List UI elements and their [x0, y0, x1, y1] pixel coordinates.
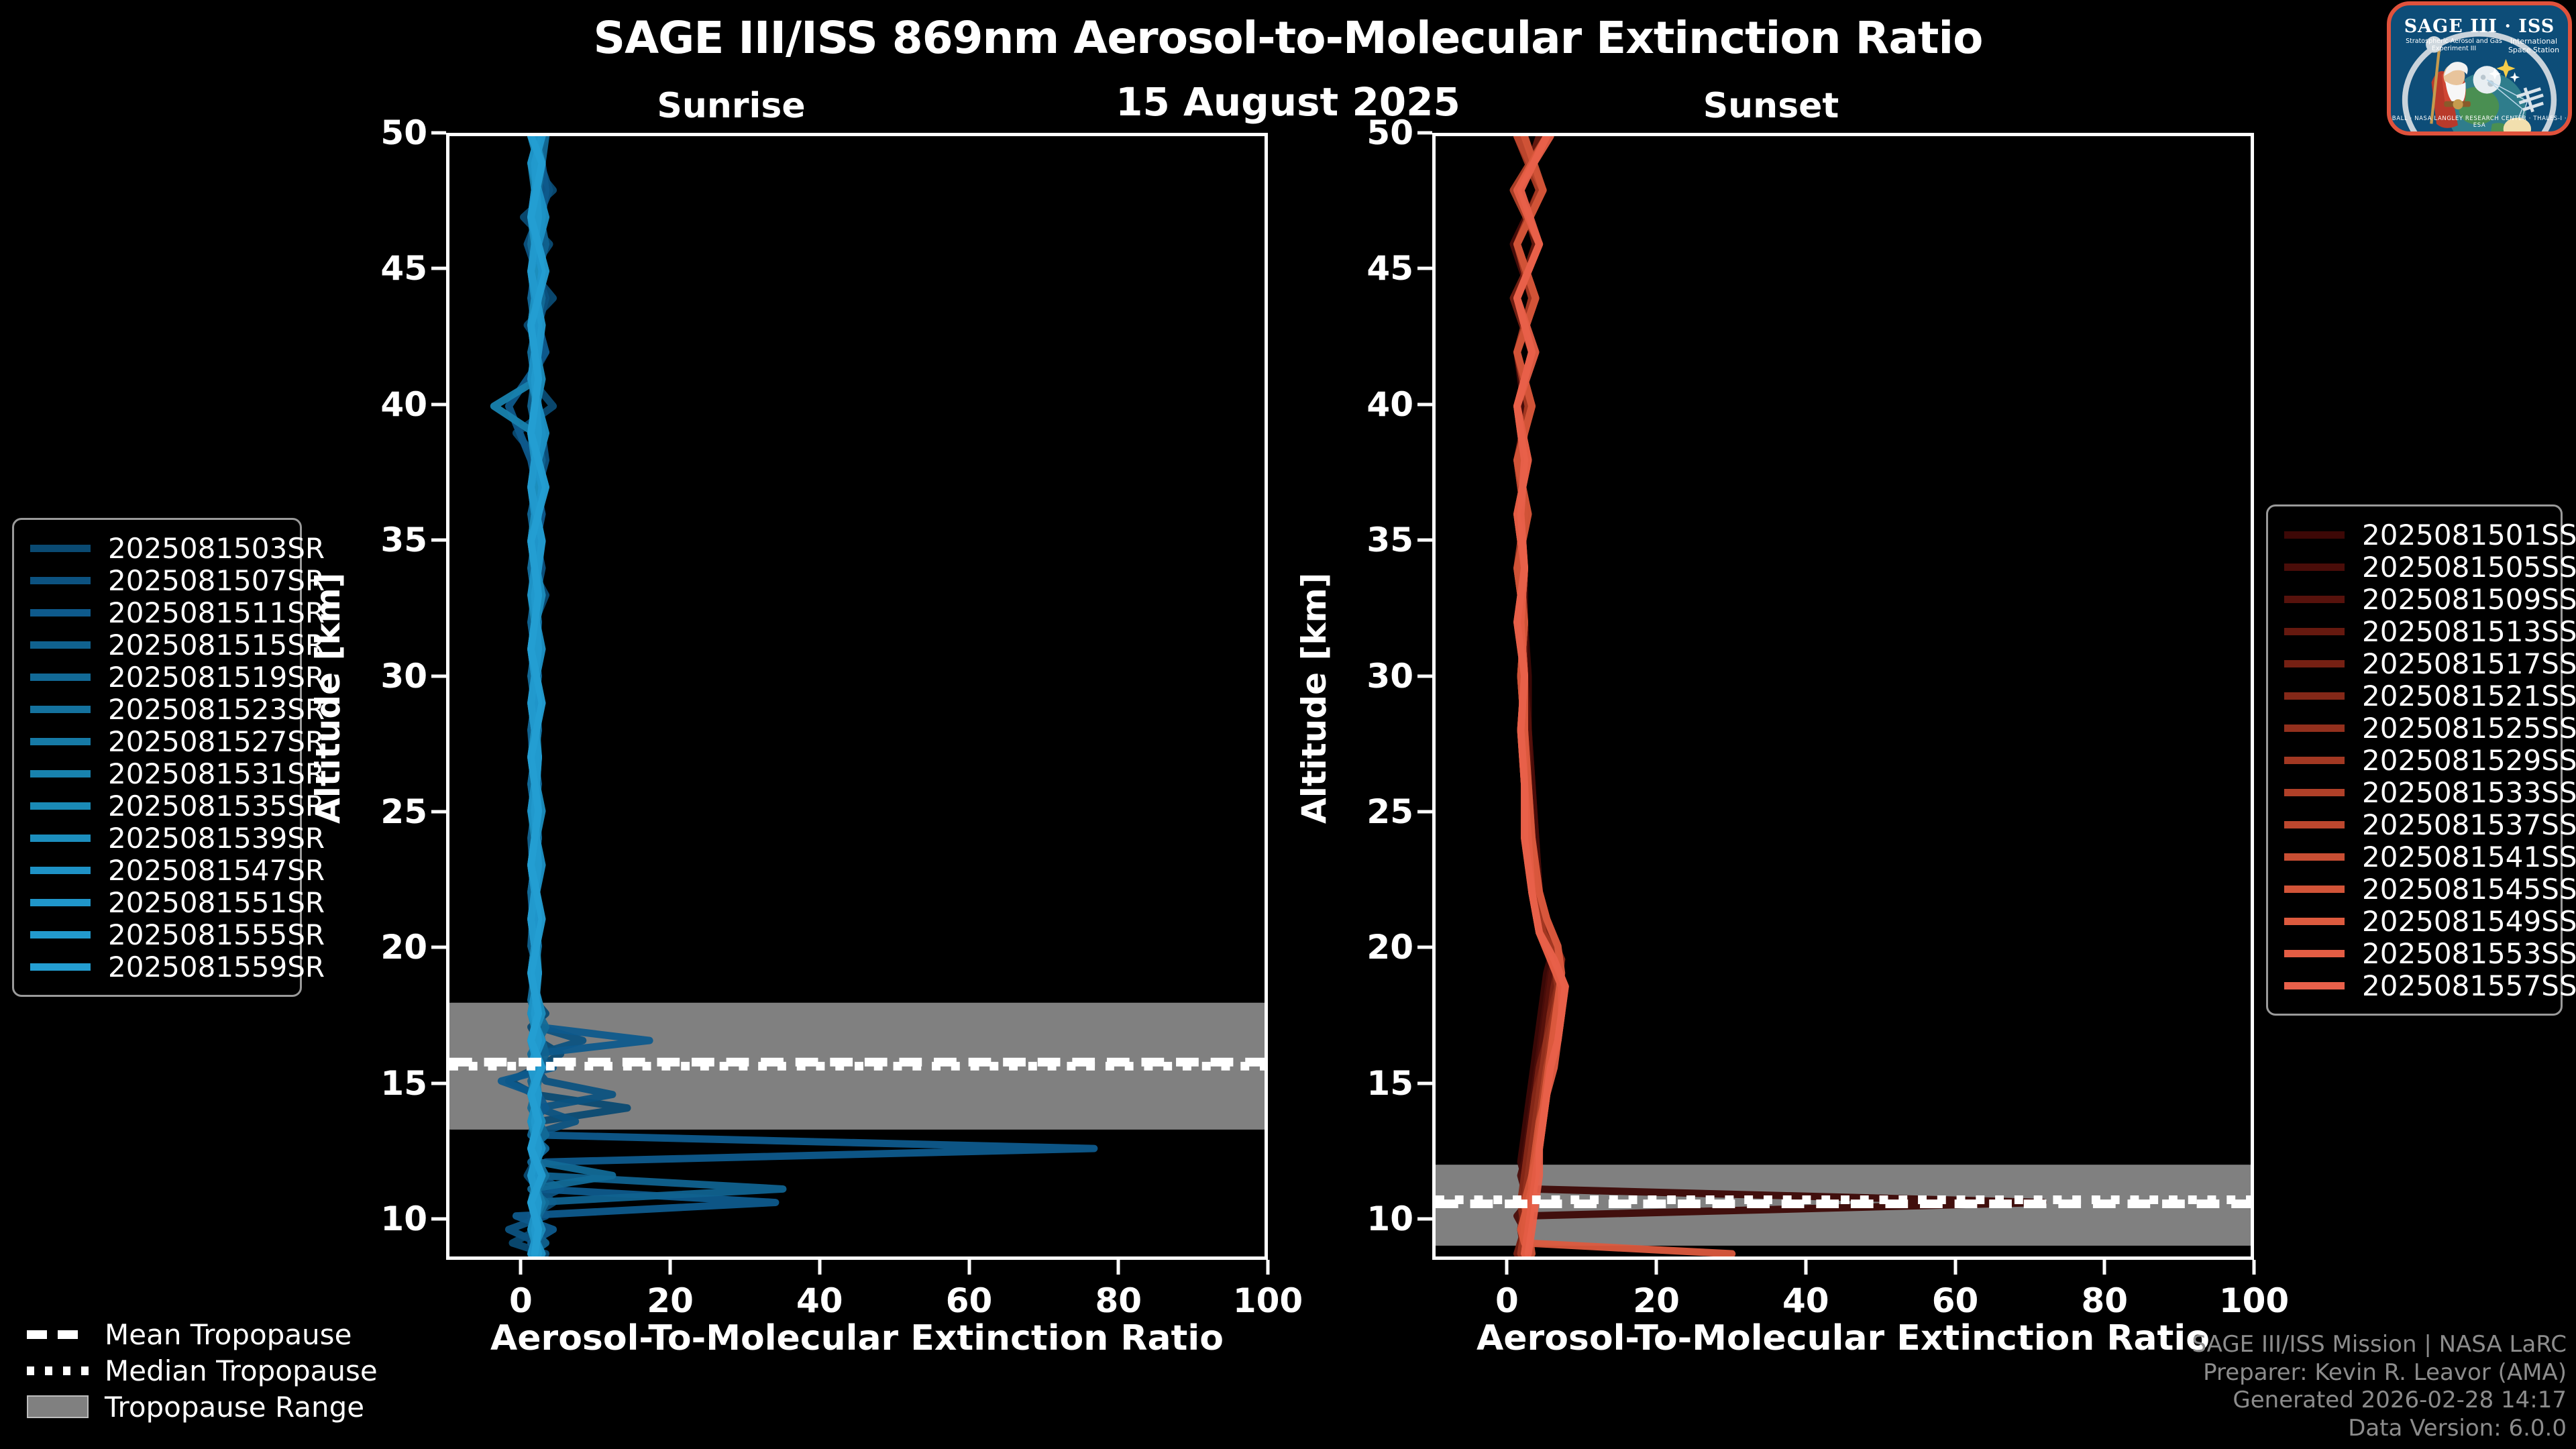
legend-item-2025081535SR[interactable]: 2025081535SR: [26, 790, 285, 822]
tropopause-legend: Mean Tropopause Median Tropopause Tropop…: [12, 1316, 378, 1425]
legend-event-label: 2025081517SS: [2362, 647, 2576, 680]
legend-event-label: 2025081549SS: [2362, 905, 2576, 938]
legend-color-swatch: [30, 545, 91, 552]
footer-line-mission: SAGE III/ISS Mission | NASA LaRC: [2192, 1331, 2567, 1358]
footer-line-version: Data Version: 6.0.0: [2192, 1415, 2567, 1442]
data-series-line: [1517, 136, 2043, 1254]
legend-event-label: 2025081529SS: [2362, 744, 2576, 777]
legend-item-2025081505SS[interactable]: 2025081505SS: [2280, 551, 2546, 583]
legend-color-swatch: [2284, 692, 2345, 700]
x-axis-tick-mark: [1267, 1260, 1270, 1275]
legend-item-2025081549SS[interactable]: 2025081549SS: [2280, 905, 2546, 937]
x-axis-tick-label: 60: [902, 1281, 1036, 1320]
sunrise-x-axis-label: Aerosol-To-Molecular Extinction Ratio: [446, 1318, 1268, 1358]
legend-color-swatch: [30, 706, 91, 713]
x-axis-tick-label: 80: [2037, 1281, 2171, 1320]
y-axis-tick-mark: [1417, 402, 1432, 406]
legend-color-swatch: [2284, 628, 2345, 635]
legend-item-2025081503SR[interactable]: 2025081503SR: [26, 532, 285, 564]
logo-partner-arc: BALL · NASA LANGLEY RESEARCH CENTER · TH…: [2391, 115, 2568, 129]
legend-item-2025081519SR[interactable]: 2025081519SR: [26, 661, 285, 693]
y-axis-tick-mark: [431, 674, 446, 678]
legend-label-median: Median Tropopause: [105, 1354, 378, 1387]
legend-item-2025081501SS[interactable]: 2025081501SS: [2280, 519, 2546, 551]
x-axis-tick-label: 60: [1888, 1281, 2023, 1320]
legend-item-2025081533SS[interactable]: 2025081533SS: [2280, 776, 2546, 808]
y-axis-tick-mark: [1417, 1218, 1432, 1221]
legend-event-label: 2025081535SR: [108, 790, 325, 822]
dashed-line-icon: [27, 1330, 89, 1339]
legend-color-swatch: [30, 867, 91, 874]
legend-event-label: 2025081525SS: [2362, 712, 2576, 745]
legend-event-label: 2025081531SR: [108, 757, 325, 790]
legend-item-2025081537SS[interactable]: 2025081537SS: [2280, 808, 2546, 841]
x-axis-tick-mark: [1117, 1260, 1120, 1275]
sunset-plot-area: [1432, 133, 2254, 1260]
y-axis-tick-label: 50: [1313, 113, 1413, 152]
y-axis-tick-label: 10: [1313, 1199, 1413, 1238]
legend-item-median-tropopause: Median Tropopause: [12, 1352, 378, 1389]
y-axis-tick-mark: [431, 1081, 446, 1085]
x-axis-tick-mark: [967, 1260, 971, 1275]
legend-color-swatch: [2284, 918, 2345, 925]
legend-color-swatch: [2284, 531, 2345, 539]
legend-color-swatch: [2284, 789, 2345, 796]
legend-item-2025081521SS[interactable]: 2025081521SS: [2280, 680, 2546, 712]
legend-event-label: 2025081515SR: [108, 629, 325, 661]
x-axis-tick-mark: [818, 1260, 821, 1275]
x-axis-tick-label: 40: [753, 1281, 887, 1320]
y-axis-tick-mark: [1417, 946, 1432, 949]
legend-color-swatch: [30, 963, 91, 971]
y-axis-tick-mark: [431, 946, 446, 949]
legend-color-swatch: [2284, 596, 2345, 603]
legend-item-2025081531SR[interactable]: 2025081531SR: [26, 757, 285, 790]
sunset-panel-title: Sunset: [1637, 86, 1905, 126]
logo-title: SAGE III · ISS: [2391, 16, 2568, 37]
legend-event-label: 2025081547SR: [108, 854, 325, 887]
y-axis-tick-label: 35: [327, 521, 427, 559]
legend-event-label: 2025081537SS: [2362, 808, 2576, 841]
legend-item-2025081517SS[interactable]: 2025081517SS: [2280, 647, 2546, 680]
page-title: SAGE III/ISS 869nm Aerosol-to-Molecular …: [0, 12, 2576, 64]
legend-item-2025081559SR[interactable]: 2025081559SR: [26, 951, 285, 983]
legend-color-swatch: [2284, 885, 2345, 893]
legend-event-label: 2025081501SS: [2362, 519, 2576, 551]
legend-item-2025081547SR[interactable]: 2025081547SR: [26, 854, 285, 886]
sunrise-plot-area: [446, 133, 1268, 1260]
legend-event-label: 2025081545SS: [2362, 873, 2576, 906]
legend-item-tropopause-range: Tropopause Range: [12, 1389, 378, 1425]
legend-event-label: 2025081523SR: [108, 693, 325, 726]
legend-label-range: Tropopause Range: [105, 1391, 364, 1424]
legend-color-swatch: [30, 802, 91, 810]
sunset-x-axis-label: Aerosol-To-Molecular Extinction Ratio: [1432, 1318, 2254, 1358]
legend-color-swatch: [30, 738, 91, 745]
y-axis-tick-mark: [1417, 810, 1432, 814]
legend-item-mean-tropopause: Mean Tropopause: [12, 1316, 378, 1352]
legend-event-label: 2025081503SR: [108, 532, 325, 565]
y-axis-tick-mark: [431, 810, 446, 814]
legend-item-2025081525SS[interactable]: 2025081525SS: [2280, 712, 2546, 744]
legend-color-swatch: [2284, 660, 2345, 667]
y-axis-tick-label: 45: [1313, 249, 1413, 288]
legend-color-swatch: [30, 674, 91, 681]
legend-item-2025081539SR[interactable]: 2025081539SR: [26, 822, 285, 854]
x-axis-tick-mark: [1804, 1260, 1807, 1275]
filled-band-icon: [27, 1395, 89, 1418]
legend-event-label: 2025081555SR: [108, 918, 325, 951]
y-axis-tick-label: 50: [327, 113, 427, 152]
sunrise-legend[interactable]: 2025081503SR2025081507SR2025081511SR2025…: [12, 518, 302, 997]
legend-event-label: 2025081551SR: [108, 886, 325, 919]
logo-subtitle-right: International Space Station: [2505, 38, 2563, 55]
y-axis-tick-mark: [431, 131, 446, 135]
y-axis-tick-label: 40: [327, 385, 427, 424]
footer-credits: SAGE III/ISS Mission | NASA LaRC Prepare…: [2192, 1331, 2567, 1442]
x-axis-tick-label: 100: [1201, 1281, 1335, 1320]
legend-color-swatch: [2284, 724, 2345, 732]
legend-event-label: 2025081527SR: [108, 725, 325, 758]
legend-event-label: 2025081511SR: [108, 596, 325, 629]
legend-item-2025081553SS[interactable]: 2025081553SS: [2280, 937, 2546, 969]
legend-item-2025081507SR[interactable]: 2025081507SR: [26, 564, 285, 596]
x-axis-tick-mark: [1953, 1260, 1957, 1275]
logo-subtitle-left: Stratospheric Aerosol and Gas Experiment…: [2395, 38, 2513, 52]
y-axis-tick-mark: [1417, 674, 1432, 678]
legend-event-label: 2025081553SS: [2362, 937, 2576, 970]
sunset-legend[interactable]: 2025081501SS2025081505SS2025081509SS2025…: [2266, 504, 2563, 1016]
legend-color-swatch: [2284, 821, 2345, 828]
y-axis-tick-mark: [431, 539, 446, 542]
legend-item-2025081511SR[interactable]: 2025081511SR: [26, 596, 285, 629]
legend-color-swatch: [30, 577, 91, 584]
y-axis-tick-mark: [1417, 131, 1432, 135]
y-axis-tick-label: 15: [327, 1064, 427, 1103]
x-axis-tick-label: 20: [1589, 1281, 1723, 1320]
legend-event-label: 2025081509SS: [2362, 583, 2576, 616]
legend-color-swatch: [30, 641, 91, 649]
y-axis-tick-mark: [1417, 539, 1432, 542]
x-axis-tick-mark: [2253, 1260, 2256, 1275]
legend-event-label: 2025081557SS: [2362, 969, 2576, 1002]
legend-item-2025081551SR[interactable]: 2025081551SR: [26, 886, 285, 918]
legend-event-label: 2025081507SR: [108, 564, 325, 597]
y-axis-tick-label: 40: [1313, 385, 1413, 424]
y-axis-tick-mark: [1417, 267, 1432, 270]
x-axis-tick-mark: [2103, 1260, 2106, 1275]
y-axis-tick-label: 35: [1313, 521, 1413, 559]
y-axis-tick-mark: [431, 1218, 446, 1221]
legend-item-2025081515SR[interactable]: 2025081515SR: [26, 629, 285, 661]
legend-event-label: 2025081533SS: [2362, 776, 2576, 809]
y-axis-tick-mark: [431, 402, 446, 406]
x-axis-tick-mark: [519, 1260, 523, 1275]
legend-item-2025081545SS[interactable]: 2025081545SS: [2280, 873, 2546, 905]
legend-item-2025081555SR[interactable]: 2025081555SR: [26, 918, 285, 951]
legend-color-swatch: [30, 770, 91, 777]
legend-event-label: 2025081505SS: [2362, 551, 2576, 584]
legend-item-2025081523SR[interactable]: 2025081523SR: [26, 693, 285, 725]
legend-item-2025081529SS[interactable]: 2025081529SS: [2280, 744, 2546, 776]
x-axis-tick-label: 80: [1051, 1281, 1185, 1320]
y-axis-tick-label: 10: [327, 1199, 427, 1238]
x-axis-tick-label: 0: [1440, 1281, 1574, 1320]
legend-item-2025081541SS[interactable]: 2025081541SS: [2280, 841, 2546, 873]
logo-patch: SAGE III · ISS Stratospheric Aerosol and…: [2387, 1, 2572, 136]
legend-color-swatch: [30, 609, 91, 616]
legend-event-label: 2025081513SS: [2362, 615, 2576, 648]
legend-item-2025081527SR[interactable]: 2025081527SR: [26, 725, 285, 757]
legend-color-swatch: [2284, 757, 2345, 764]
sage-iii-iss-logo: SAGE III · ISS Stratospheric Aerosol and…: [2387, 1, 2572, 136]
y-axis-tick-mark: [1417, 1081, 1432, 1085]
legend-item-2025081509SS[interactable]: 2025081509SS: [2280, 583, 2546, 615]
legend-event-label: 2025081521SS: [2362, 680, 2576, 712]
legend-event-label: 2025081559SR: [108, 951, 325, 983]
legend-label-mean: Mean Tropopause: [105, 1318, 352, 1351]
legend-color-swatch: [2284, 950, 2345, 957]
y-axis-tick-label: 45: [327, 249, 427, 288]
legend-color-swatch: [2284, 563, 2345, 571]
legend-color-swatch: [2284, 853, 2345, 861]
y-axis-tick-label: 20: [1313, 928, 1413, 967]
legend-event-label: 2025081539SR: [108, 822, 325, 855]
x-axis-tick-label: 0: [453, 1281, 588, 1320]
x-axis-tick-label: 100: [2187, 1281, 2321, 1320]
footer-line-preparer: Preparer: Kevin R. Leavor (AMA): [2192, 1359, 2567, 1387]
y-axis-tick-label: 15: [1313, 1064, 1413, 1103]
x-axis-tick-mark: [1505, 1260, 1509, 1275]
legend-color-swatch: [30, 899, 91, 906]
sunrise-panel-title: Sunrise: [597, 86, 865, 126]
legend-color-swatch: [30, 931, 91, 938]
dotted-line-icon: [27, 1366, 89, 1375]
y-axis-tick-label: 20: [327, 928, 427, 967]
legend-event-label: 2025081519SR: [108, 661, 325, 694]
legend-color-swatch: [2284, 982, 2345, 989]
x-axis-tick-label: 20: [603, 1281, 737, 1320]
legend-item-2025081557SS[interactable]: 2025081557SS: [2280, 969, 2546, 1002]
sunset-y-axis-label: Altitude [km]: [1295, 572, 1334, 824]
x-axis-tick-mark: [669, 1260, 672, 1275]
x-axis-tick-mark: [1655, 1260, 1658, 1275]
x-axis-tick-label: 40: [1739, 1281, 1873, 1320]
legend-event-label: 2025081541SS: [2362, 841, 2576, 873]
footer-line-generated: Generated 2026-02-28 14:17: [2192, 1387, 2567, 1414]
legend-item-2025081513SS[interactable]: 2025081513SS: [2280, 615, 2546, 647]
y-axis-tick-mark: [431, 267, 446, 270]
legend-color-swatch: [30, 835, 91, 842]
